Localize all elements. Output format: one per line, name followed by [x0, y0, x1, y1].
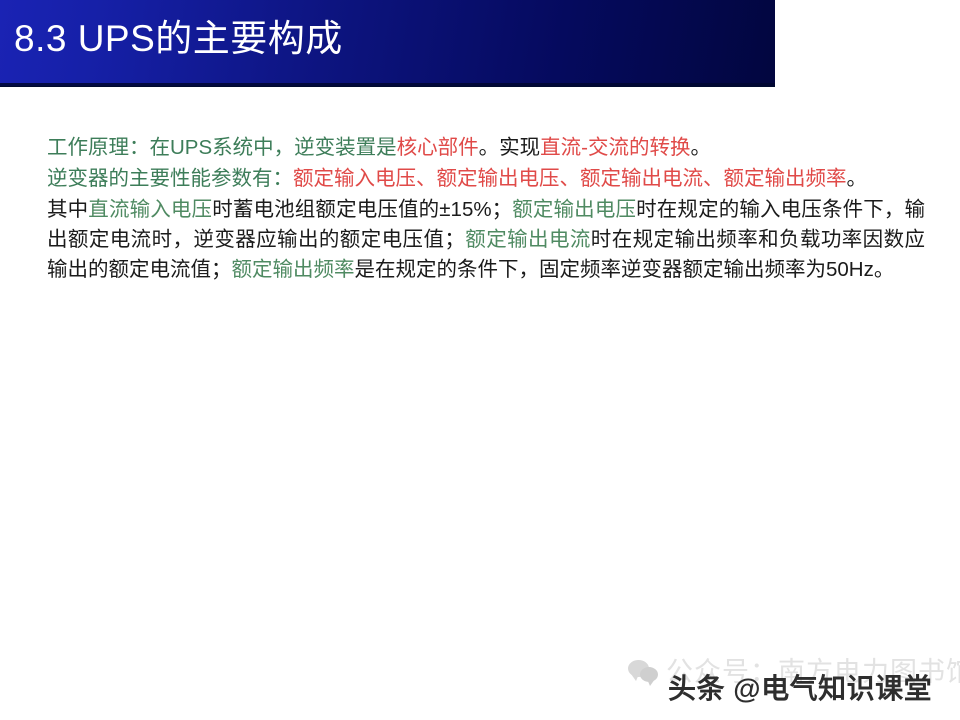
p1-segment-2-highlight: 核心部件	[397, 136, 479, 159]
slide-canvas: 8.3 UPS的主要构成 工作原理：在UPS系统中，逆变装置是核心部件。实现直流…	[0, 0, 960, 720]
toutiao-watermark-text: 头条 @电气知识课堂	[668, 673, 932, 704]
p1-segment-3: 。实现	[479, 136, 541, 159]
paragraph-working-principle: 工作原理：在UPS系统中，逆变装置是核心部件。实现直流-交流的转换。	[47, 133, 925, 163]
p3-segment-2-highlight: 直流输入电压	[88, 198, 212, 221]
slide-body-text: 工作原理：在UPS系统中，逆变装置是核心部件。实现直流-交流的转换。 逆变器的主…	[47, 133, 925, 286]
page-title: 8.3 UPS的主要构成	[14, 16, 343, 62]
p3-segment-9: 是在规定的条件下，固定频率逆变器额定输出频率为50Hz。	[355, 258, 895, 281]
p1-segment-5: 。	[690, 136, 711, 159]
p2-segment-2-highlight: 额定输入电压、额定输出电压、额定输出电流、额定输出频率	[293, 167, 847, 190]
p3-segment-3: 时蓄电池组额定电压值的±15%；	[212, 198, 512, 221]
p1-segment-4-highlight: 直流-交流的转换	[540, 136, 690, 159]
p1-segment-1: 工作原理：在UPS系统中，逆变装置是	[47, 136, 397, 159]
paragraph-parameter-definitions: 其中直流输入电压时蓄电池组额定电压值的±15%；额定输出电压时在规定的输入电压条…	[47, 195, 925, 285]
paragraph-performance-parameters: 逆变器的主要性能参数有：额定输入电压、额定输出电压、额定输出电流、额定输出频率。	[47, 164, 925, 194]
p2-segment-3: 。	[847, 167, 868, 190]
toutiao-watermark: 头条 @电气知识课堂	[668, 672, 932, 706]
p3-segment-4-highlight: 额定输出电压	[512, 198, 636, 221]
p3-segment-8-highlight: 额定输出频率	[232, 258, 355, 281]
p3-segment-6-highlight: 额定输出电流	[465, 228, 591, 251]
wechat-icon	[628, 659, 662, 685]
p2-segment-1: 逆变器的主要性能参数有：	[47, 167, 293, 190]
slide-title-banner: 8.3 UPS的主要构成	[0, 0, 775, 86]
p3-segment-1: 其中	[47, 198, 88, 221]
